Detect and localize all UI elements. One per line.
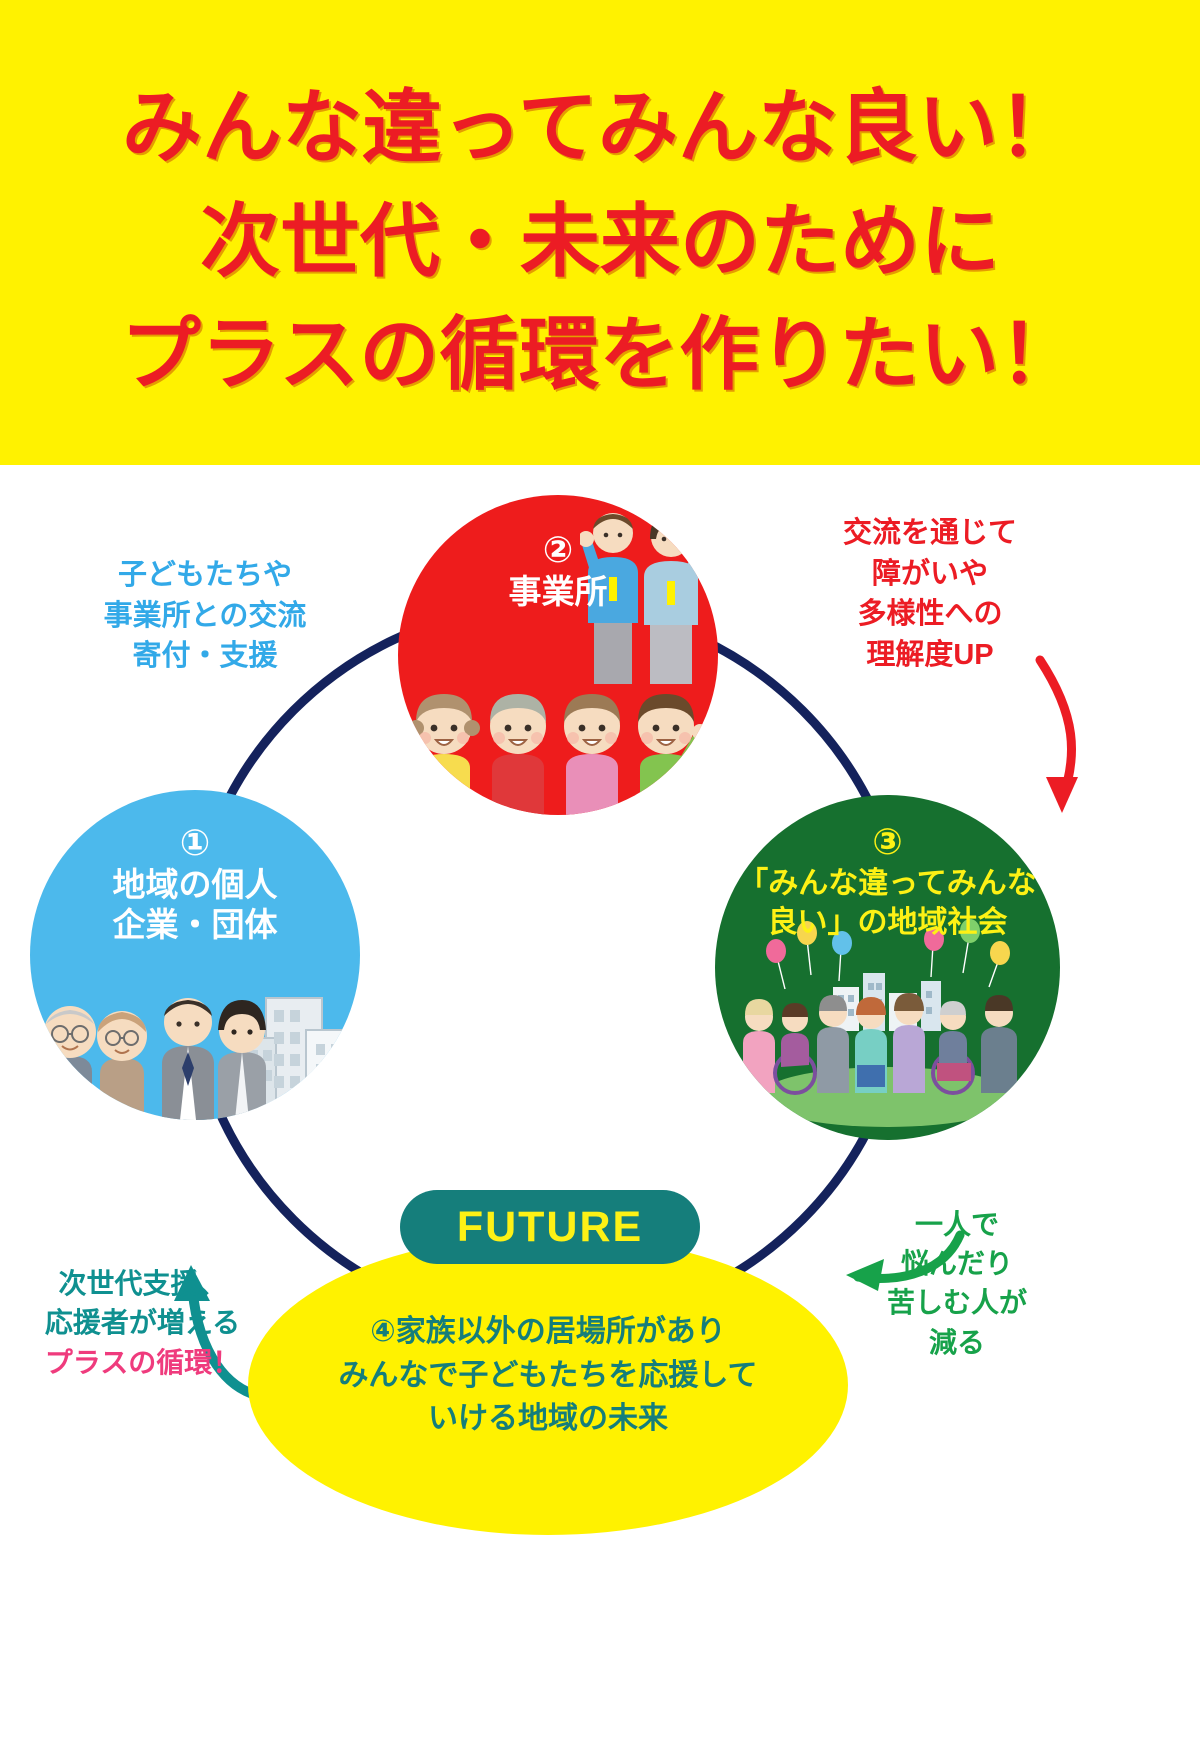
label-top-left: 子どもたちや 事業所との交流 寄付・支援 xyxy=(55,555,355,677)
node-three-text: ③ 「みんな違ってみんな 良い」の地域社会 xyxy=(715,822,1060,942)
node-one-text: ① 地域の個人 企業・団体 xyxy=(30,823,360,945)
cycle-node-business-office[interactable]: ② 事業所 xyxy=(398,495,718,815)
node-three-label: 「みんな違ってみんな 良い」の地域社会 xyxy=(715,864,1060,942)
cycle-node-inclusive-community[interactable]: ③ 「みんな違ってみんな 良い」の地域社会 xyxy=(715,795,1060,1140)
future-badge-label: FUTURE xyxy=(457,1203,643,1252)
banner-line-2: 次世代・未来のために xyxy=(200,185,1000,299)
node-three-number: ③ xyxy=(715,822,1060,862)
future-body-text: ④家族以外の居場所があり みんなで子どもたちを応援して いける地域の未来 xyxy=(268,1310,828,1441)
future-badge[interactable]: FUTURE xyxy=(400,1190,700,1264)
node-one-number: ① xyxy=(30,823,360,863)
node-two-text: ② 事業所 xyxy=(398,530,718,612)
label-top-right: 交流を通じて 障がいや 多様性への 理解度UP xyxy=(800,513,1060,675)
banner-line-1: みんな違ってみんな良い！ xyxy=(122,71,1078,185)
node-two-label: 事業所 xyxy=(398,572,718,612)
header-banner: みんな違ってみんな良い！ 次世代・未来のために プラスの循環を作りたい！ xyxy=(0,0,1200,465)
node-two-number: ② xyxy=(398,530,718,570)
label-bottom-left-accent: プラスの循環！ xyxy=(10,1343,275,1382)
diverse-community-icon xyxy=(737,915,1037,1130)
node-one-label: 地域の個人 企業・団体 xyxy=(30,865,360,946)
label-bottom-left-main: 次世代支援、 応援者が増える xyxy=(45,1268,240,1338)
cycle-diagram: ① 地域の個人 企業・団体 xyxy=(0,465,1200,1759)
cycle-node-local-individuals[interactable]: ① 地域の個人 企業・団体 xyxy=(30,790,360,1120)
arrow-top-right-red xyxy=(1040,660,1078,813)
label-bottom-left: 次世代支援、 応援者が増える プラスの循環！ xyxy=(10,1225,275,1421)
label-bottom-right: 一人で 悩んだり 苦しむ人が 減る xyxy=(862,1205,1052,1362)
banner-line-3: プラスの循環を作りたい！ xyxy=(121,298,1079,412)
